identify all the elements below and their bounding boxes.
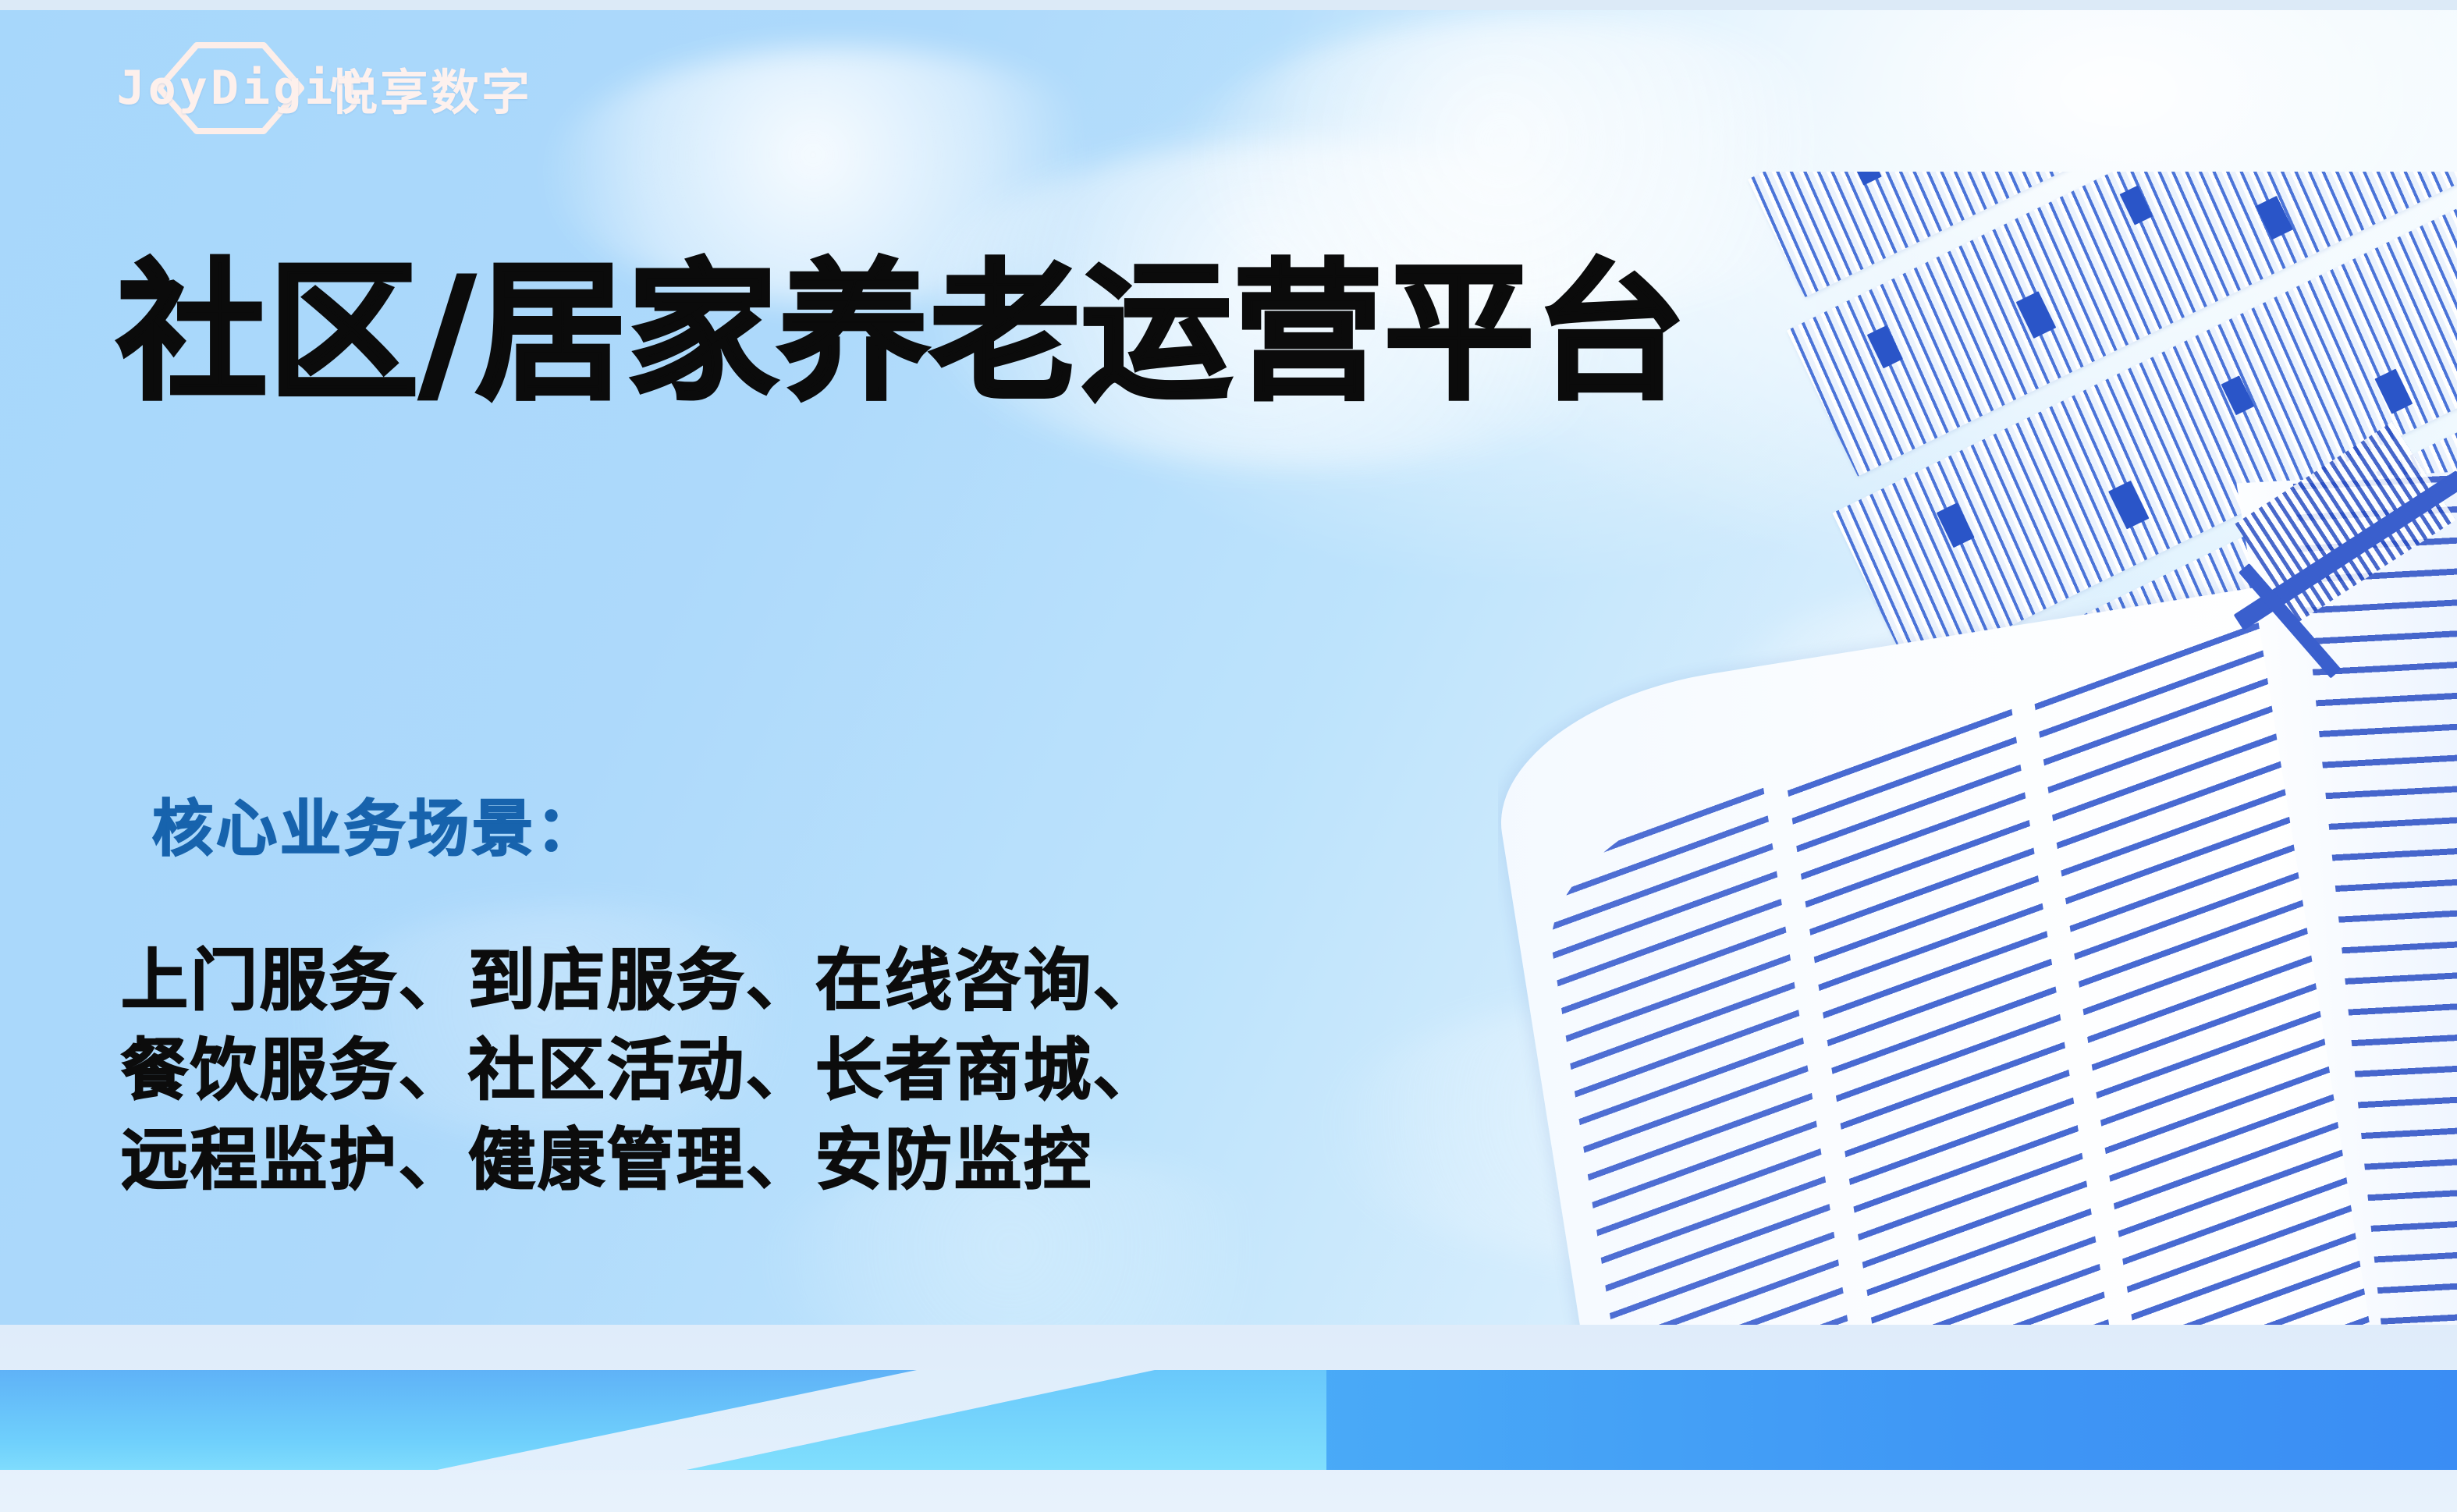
scenario-line: 远程监护、健康管理、安防监控 xyxy=(121,1116,1163,1205)
footer-decoration xyxy=(0,1325,2457,1512)
logo-latin-text: JoyDigit xyxy=(117,61,367,115)
top-edge-strip xyxy=(0,0,2457,10)
logo-mark: JoyDigit xyxy=(125,37,359,139)
scenario-line: 餐饮服务、社区活动、长者商城、 xyxy=(121,1026,1163,1116)
page-title: 社区/居家养老运营平台 xyxy=(117,250,1687,417)
brand-logo[interactable]: JoyDigit 悦享数字 xyxy=(125,37,532,139)
section-heading-core-scenarios: 核心业务场景： xyxy=(152,780,600,868)
scenario-list: 上门服务、到店服务、在线咨询、 餐饮服务、社区活动、长者商城、 远程监护、健康管… xyxy=(121,936,1163,1206)
scenario-line: 上门服务、到店服务、在线咨询、 xyxy=(121,936,1163,1026)
slide-root: JoyDigit 悦享数字 社区/居家养老运营平台 核心业务场景： 上门服务、到… xyxy=(0,0,2457,1512)
